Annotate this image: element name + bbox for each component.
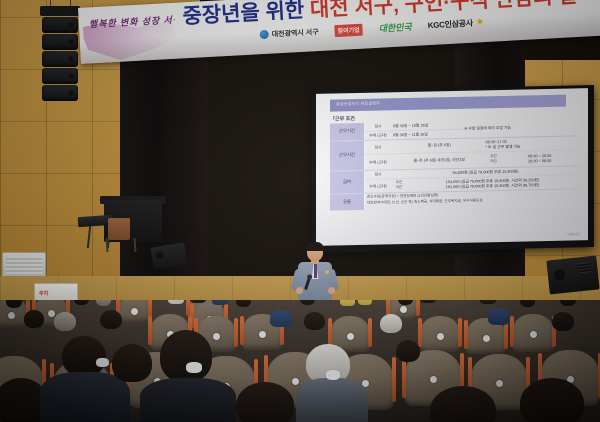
audience-head-cap xyxy=(358,300,372,305)
audience-shoulders xyxy=(296,378,368,422)
slide-table: 근무기간 정시 9월 30일 ~ 10월 25일 부제 (교대) 9월 30일 … xyxy=(330,118,578,210)
audience-head-cap xyxy=(270,310,292,327)
audience-head xyxy=(54,312,76,331)
audience-head-foreground xyxy=(236,382,294,422)
slide-header-bar: 중장년일자리 채용설명회 xyxy=(330,95,566,112)
shift-night-time: 20:30 ~ 08:30 xyxy=(502,158,579,164)
slide-header-text: 중장년일자리 채용설명회 xyxy=(336,101,380,108)
seat xyxy=(512,314,554,352)
audience-head xyxy=(396,340,420,362)
floor-monitor-speaker-right xyxy=(546,255,599,294)
presenter-hand-right xyxy=(328,287,335,294)
row-item-label: 정시 xyxy=(365,124,391,129)
audience-head-cap xyxy=(168,300,184,304)
slide-subtitle: 「근무 조건 xyxy=(330,115,355,123)
row-item-label: 부제 (교대) xyxy=(365,133,391,138)
seat xyxy=(420,316,460,352)
slide-surface: 중장년일자리 채용설명회 「근무 조건 근무기간 정시 9월 30일 ~ 10월… xyxy=(316,88,588,246)
audience-head-foreground xyxy=(62,336,106,376)
audience-head xyxy=(304,312,325,330)
floor-sign-text: 주차 xyxy=(39,290,48,297)
audience-head xyxy=(520,300,535,307)
pay-night-label: 야간 xyxy=(391,185,407,190)
row-item-label: 부제 (교대) xyxy=(365,160,391,165)
shift-night-label: 야간 xyxy=(486,159,502,164)
audience-shoulders xyxy=(140,378,236,422)
audience-head xyxy=(560,300,576,306)
line-array-speaker-icon xyxy=(36,6,82,98)
row-item-label: 정시 xyxy=(365,172,391,177)
face-mask xyxy=(96,358,109,367)
row-category-label: 공통 xyxy=(330,194,365,211)
row-item-label: 부제 (교대) xyxy=(365,184,391,189)
row-item-value: 월~토 (주 6일) 주간2일, 야간2일 xyxy=(391,158,486,164)
audience-head xyxy=(236,300,251,307)
audience-head xyxy=(380,314,402,333)
audience-area xyxy=(0,300,600,422)
photo-scene: 중장년일자리 채용설명회 「근무 조건 근무기간 정시 9월 30일 ~ 10월… xyxy=(0,0,600,422)
audience-head-cap xyxy=(340,300,355,306)
presenter-lapel-badge xyxy=(325,270,329,274)
audience-shoulders xyxy=(40,372,130,422)
row-item-label: 정시 xyxy=(365,145,391,150)
face-mask xyxy=(186,362,202,373)
row-category-label: 근무시간 xyxy=(330,141,365,171)
wooden-chair xyxy=(108,218,130,240)
audience-head-cap xyxy=(488,308,510,325)
seat xyxy=(118,300,150,323)
row-item-value: 9월 30일 ~ 10월 25일 xyxy=(391,123,464,129)
audience-head xyxy=(24,310,44,328)
audience-head-foreground xyxy=(160,330,212,382)
presenter-hair xyxy=(306,242,324,251)
slide-footer-logo: 대전서구 xyxy=(568,231,580,236)
row-item-value: 9월 30일 ~ 11월 26일 xyxy=(391,132,464,138)
presenter-person xyxy=(292,243,338,305)
presenter-hand-left xyxy=(296,287,303,294)
row-note: ※ 사업 일정에 따라 조정 가능 xyxy=(464,125,578,132)
row-category-label: 근무기간 xyxy=(330,123,365,141)
row-item-value: 월~금 (주 5일) xyxy=(391,143,486,149)
face-mask xyxy=(326,370,340,380)
audience-head xyxy=(552,312,574,331)
audience-head-foreground xyxy=(112,344,152,382)
projection-screen: 중장년일자리 채용설명회 「근무 조건 근무기간 정시 9월 30일 ~ 10월… xyxy=(312,85,594,253)
audience-head xyxy=(100,310,122,329)
audience-head xyxy=(74,300,89,305)
chair-legs xyxy=(106,238,137,252)
presenter-tie xyxy=(314,264,318,278)
audience-head-foreground xyxy=(520,378,584,422)
audience-head xyxy=(96,300,111,306)
audience-head-cap xyxy=(480,300,496,304)
row-category-label: 급여 xyxy=(330,171,365,194)
audience-head-cap xyxy=(420,300,436,303)
audience-head-cap xyxy=(212,300,228,305)
audience-head xyxy=(300,300,315,305)
